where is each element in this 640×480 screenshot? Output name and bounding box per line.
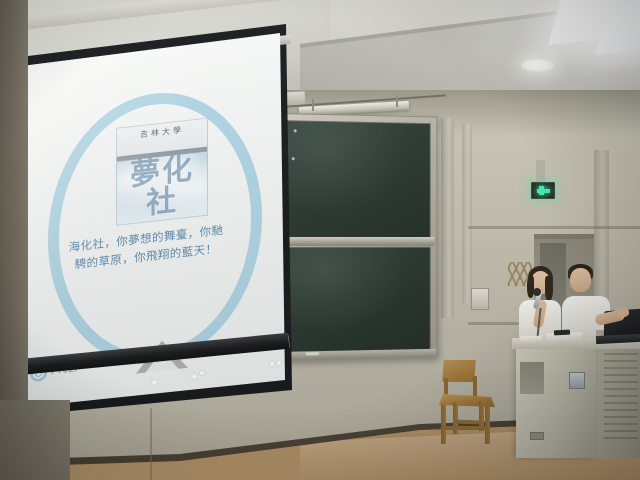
fluorescent-arm-right bbox=[396, 95, 398, 107]
blackboard-panel-lower bbox=[283, 247, 431, 353]
doorway-alcove-trim bbox=[534, 234, 596, 239]
wall-pilaster-2 bbox=[462, 124, 472, 304]
photo-club-calligraphy: 夢化社 bbox=[117, 153, 207, 223]
blackboard bbox=[276, 113, 437, 361]
slide-logo-photo: 吉林大學 夢化社 bbox=[116, 118, 208, 226]
blackboard-panel-upper bbox=[283, 120, 431, 238]
screen-stud-right bbox=[270, 362, 274, 366]
exit-sign bbox=[531, 182, 555, 199]
phone-on-desk[interactable] bbox=[554, 330, 570, 336]
exit-sign-mount bbox=[536, 160, 545, 183]
podium-open-shelf bbox=[520, 362, 544, 394]
chair-back-post-right bbox=[473, 376, 477, 398]
screen-stud-mid-2 bbox=[200, 371, 204, 375]
chair-leg-front-right bbox=[485, 406, 490, 444]
podium-vent-slots bbox=[604, 346, 638, 442]
podium-front bbox=[516, 340, 596, 458]
chair-rail-front bbox=[442, 426, 488, 430]
wall-switch-plate[interactable] bbox=[471, 288, 489, 310]
screen-stud-mid bbox=[192, 374, 197, 379]
microphone-head-icon bbox=[533, 288, 541, 296]
speaker-hair-left bbox=[527, 276, 534, 298]
screen-stud-left bbox=[152, 380, 157, 385]
running-man-exit-icon bbox=[537, 186, 550, 195]
screen-stud-right-2 bbox=[277, 361, 281, 365]
speaker-hair-right bbox=[545, 276, 553, 301]
blackboard-center-rail[interactable] bbox=[279, 237, 434, 246]
papers-on-desk-secondary[interactable] bbox=[520, 336, 542, 343]
operator-head bbox=[570, 268, 591, 292]
blackboard-mark-b bbox=[292, 157, 295, 160]
left-wall-lower bbox=[0, 400, 70, 480]
wooden-chair[interactable] bbox=[437, 360, 497, 444]
wall-seam bbox=[150, 408, 152, 480]
wall-band-upper bbox=[468, 226, 640, 229]
chalk-piece[interactable] bbox=[305, 352, 319, 355]
classroom-photo: 吉林大學 夢化社 海化社，你夢想的舞臺，你馳 騁的草原，你飛翔的藍天！ Prez… bbox=[0, 0, 640, 480]
chair-leg-front-left bbox=[441, 405, 446, 444]
ceiling-downlight-icon bbox=[521, 59, 554, 72]
podium-latch[interactable] bbox=[530, 432, 544, 440]
wall-pilaster-1 bbox=[441, 118, 454, 318]
fluorescent-arm-left bbox=[312, 99, 314, 111]
podium-control-panel[interactable] bbox=[569, 372, 585, 389]
blackboard-mark-a bbox=[294, 129, 297, 132]
